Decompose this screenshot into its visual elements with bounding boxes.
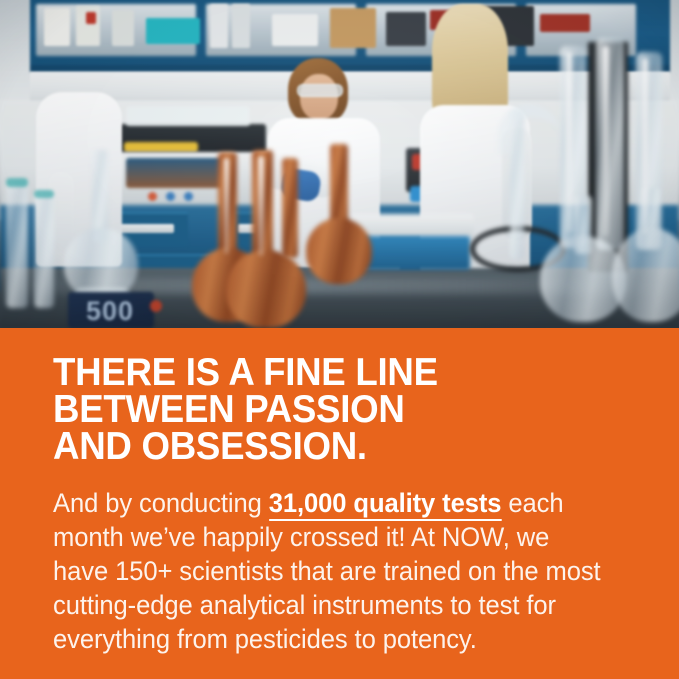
shelf-box-white: [272, 14, 318, 46]
amber-flask-neck: [282, 158, 298, 258]
balance-instrument: [352, 214, 474, 238]
glass-highlight: [642, 58, 648, 234]
instrument-knob: [184, 192, 193, 201]
quality-tests-highlight: 31,000 quality tests: [269, 488, 502, 521]
shelf-box-dark: [386, 12, 426, 46]
lab-photo: 500: [0, 0, 679, 328]
shelf-bottle: [232, 4, 250, 48]
cylinder-teal-cap: [6, 178, 28, 187]
shelf-teal-tray: [146, 18, 200, 44]
glass-highlight: [258, 156, 264, 256]
shelf-bottle: [210, 4, 228, 48]
cylinder-teal-cap: [34, 190, 54, 198]
glass-highlight: [602, 46, 609, 236]
instrument-screen: [126, 158, 232, 188]
shelf-bottle: [44, 8, 70, 46]
label-red-dot: [150, 300, 162, 312]
body-lead-text: And by conducting: [53, 488, 269, 518]
erlenmeyer-flask: [612, 228, 679, 322]
shelf-box-tan: [330, 8, 376, 48]
body-paragraph: And by conducting 31,000 quality tests e…: [53, 486, 609, 656]
glass-highlight: [224, 158, 229, 254]
instrument-knob: [148, 192, 157, 201]
scientist-seated-face: [300, 74, 338, 120]
orange-text-panel: THERE IS A FINE LINE BETWEEN PASSION AND…: [0, 328, 679, 679]
amber-flask-bulb: [226, 250, 306, 328]
graduated-cylinder: [34, 192, 54, 308]
test-tube-rack: [126, 106, 250, 126]
graduated-cylinder: [596, 38, 624, 250]
shelf-box-red: [540, 14, 590, 32]
safety-goggles-icon: [297, 84, 343, 97]
page-title: THERE IS A FINE LINE BETWEEN PASSION AND…: [53, 354, 594, 465]
graduated-cylinder: [6, 180, 28, 308]
marketing-banner: 500 THERE IS A FINE LINE BETWEEN PASSION…: [0, 0, 679, 679]
balance-base-blue: [356, 236, 470, 270]
instrument-yellow-strip: [124, 142, 198, 152]
shelf-bottle: [112, 10, 134, 46]
glassware-label-text: 500: [74, 296, 146, 326]
amber-flask-bulb: [306, 218, 372, 284]
glass-highlight: [566, 52, 572, 232]
instrument-knob: [166, 192, 175, 201]
shelf-marker-red: [86, 12, 96, 24]
